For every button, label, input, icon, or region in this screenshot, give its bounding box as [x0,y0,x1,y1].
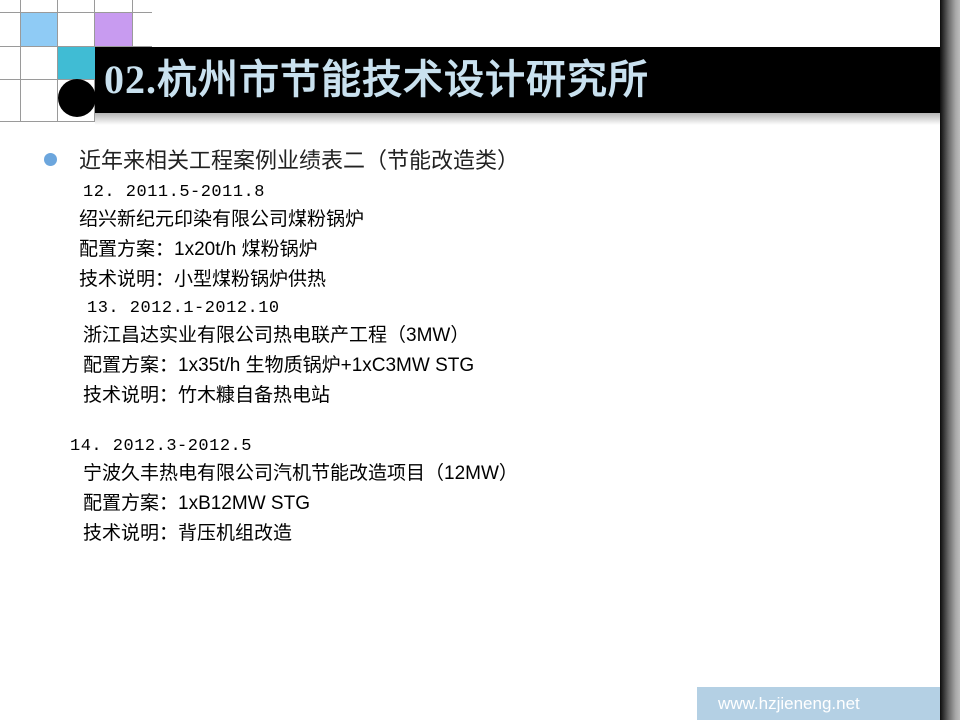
entry-project: 绍兴新纪元印染有限公司煤粉锅炉 [79,205,364,235]
deco-square-blue [21,13,57,46]
project-entry: 13. 2012.1-2012.10 浙江昌达实业有限公司热电联产工程（3MW）… [79,299,474,411]
entry-tech-note: 技术说明：竹木糠自备热电站 [83,381,474,411]
entry-project: 宁波久丰热电有限公司汽机节能改造项目（12MW） [83,459,518,489]
entry-number: 14. 2012.3-2012.5 [70,437,518,456]
deco-square-teal [58,47,95,79]
project-entry: 14. 2012.3-2012.5 宁波久丰热电有限公司汽机节能改造项目（12M… [70,437,518,549]
entry-tech-note: 技术说明：小型煤粉锅炉供热 [79,265,364,295]
section-heading-label: 近年来相关工程案例业绩表二（节能改造类） [79,143,519,175]
deco-square-purple [95,13,132,46]
footer-url: www.hzjieneng.net [718,687,940,720]
entry-config: 配置方案：1xB12MW STG [83,489,518,519]
deco-circle-black [58,79,96,117]
entry-number: 13. 2012.1-2012.10 [87,299,474,318]
entry-number: 12. 2011.5-2011.8 [83,183,364,202]
entry-body: 浙江昌达实业有限公司热电联产工程（3MW） 配置方案：1x35t/h 生物质锅炉… [83,321,474,411]
grid-line-vertical [132,0,133,47]
entry-config: 配置方案：1x35t/h 生物质锅炉+1xC3MW STG [83,351,474,381]
title-bar-shadow [95,113,940,125]
slide-canvas: 02.杭州市节能技术设计研究所 近年来相关工程案例业绩表二（节能改造类） 12.… [0,0,960,720]
entry-project: 浙江昌达实业有限公司热电联产工程（3MW） [83,321,474,351]
entry-tech-note: 技术说明：背压机组改造 [83,519,518,549]
entry-config: 配置方案：1x20t/h 煤粉锅炉 [79,235,364,265]
project-entry: 12. 2011.5-2011.8 绍兴新纪元印染有限公司煤粉锅炉 配置方案：1… [79,183,364,295]
slide-edge-gradient [940,0,960,720]
section-heading: 近年来相关工程案例业绩表二（节能改造类） [44,143,519,175]
entry-body: 宁波久丰热电有限公司汽机节能改造项目（12MW） 配置方案：1xB12MW ST… [83,459,518,549]
grid-line-horizontal [0,121,95,122]
entry-body: 绍兴新纪元印染有限公司煤粉锅炉 配置方案：1x20t/h 煤粉锅炉 技术说明：小… [79,205,364,295]
bullet-icon [44,153,57,166]
page-title: 02.杭州市节能技术设计研究所 [104,50,649,110]
